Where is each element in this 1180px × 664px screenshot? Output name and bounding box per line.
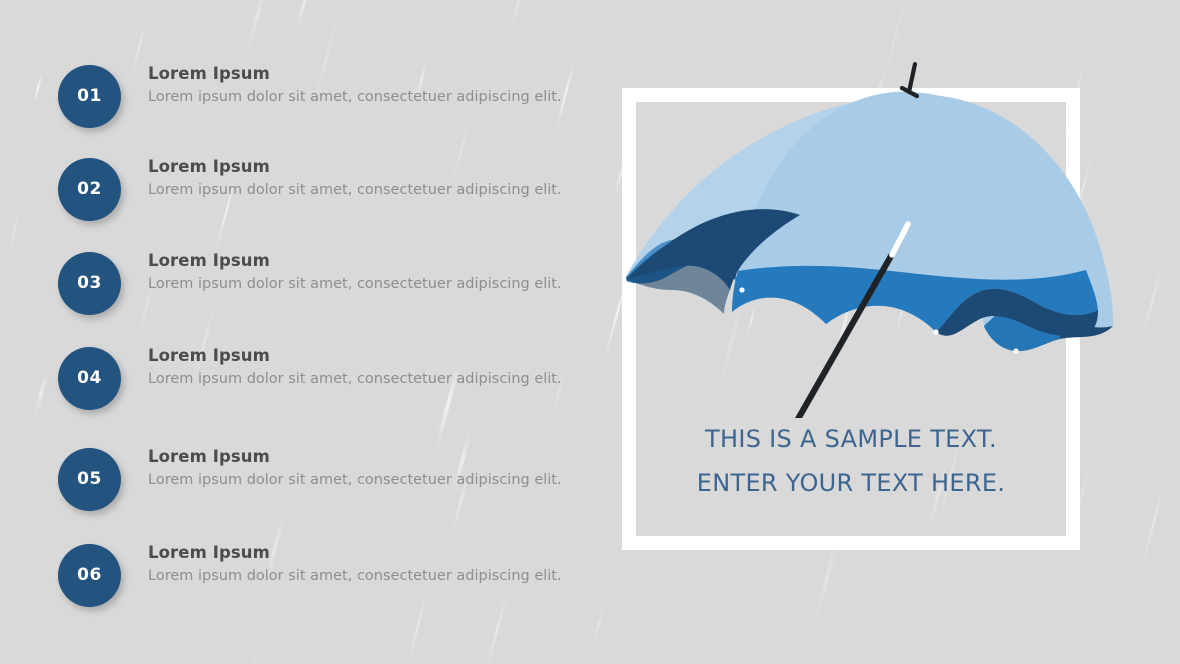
list-item-text: Lorem Ipsum Lorem ipsum dolor sit amet, …	[148, 346, 588, 388]
list-item-badge: 04	[58, 347, 121, 410]
list-item-title: Lorem Ipsum	[148, 543, 588, 564]
list-item-number: 02	[77, 181, 102, 198]
list-item-body: Lorem ipsum dolor sit amet, consectetuer…	[148, 567, 588, 586]
list-item-body: Lorem ipsum dolor sit amet, consectetuer…	[148, 275, 588, 294]
list-item-body: Lorem ipsum dolor sit amet, consectetuer…	[148, 181, 588, 200]
list-item-body: Lorem ipsum dolor sit amet, consectetuer…	[148, 370, 588, 389]
list-item-title: Lorem Ipsum	[148, 64, 588, 85]
list-item-text: Lorem Ipsum Lorem ipsum dolor sit amet, …	[148, 64, 588, 106]
list-item-text: Lorem Ipsum Lorem ipsum dolor sit amet, …	[148, 157, 588, 199]
list-item[interactable]: 02 Lorem Ipsum Lorem ipsum dolor sit ame…	[0, 158, 600, 232]
caption-block: THIS IS A SAMPLE TEXT. ENTER YOUR TEXT H…	[636, 418, 1066, 505]
list-item[interactable]: 06 Lorem Ipsum Lorem ipsum dolor sit ame…	[0, 544, 600, 618]
list-item[interactable]: 01 Lorem Ipsum Lorem ipsum dolor sit ame…	[0, 65, 600, 139]
list-item-body: Lorem ipsum dolor sit amet, consectetuer…	[148, 88, 588, 107]
list-item-title: Lorem Ipsum	[148, 447, 588, 468]
list-item[interactable]: 05 Lorem Ipsum Lorem ipsum dolor sit ame…	[0, 448, 600, 522]
list-item-badge: 06	[58, 544, 121, 607]
list-item-text: Lorem Ipsum Lorem ipsum dolor sit amet, …	[148, 543, 588, 585]
list-item-number: 03	[77, 275, 102, 292]
list-item-number: 06	[77, 567, 102, 584]
list-item-text: Lorem Ipsum Lorem ipsum dolor sit amet, …	[148, 251, 588, 293]
list-item-number: 05	[77, 471, 102, 488]
list-item-badge: 02	[58, 158, 121, 221]
list-item-badge: 01	[58, 65, 121, 128]
list-item-badge: 03	[58, 252, 121, 315]
list-item[interactable]: 04 Lorem Ipsum Lorem ipsum dolor sit ame…	[0, 347, 600, 421]
list-item-number: 04	[77, 370, 102, 387]
caption-line-1: THIS IS A SAMPLE TEXT.	[636, 418, 1066, 462]
list-item-body: Lorem ipsum dolor sit amet, consectetuer…	[148, 471, 588, 490]
list-item-text: Lorem Ipsum Lorem ipsum dolor sit amet, …	[148, 447, 588, 489]
list-item-number: 01	[77, 88, 102, 105]
caption-line-2: ENTER YOUR TEXT HERE.	[636, 462, 1066, 506]
list-item[interactable]: 03 Lorem Ipsum Lorem ipsum dolor sit ame…	[0, 252, 600, 326]
slide-canvas: 01 Lorem Ipsum Lorem ipsum dolor sit ame…	[0, 0, 1180, 664]
list-item-title: Lorem Ipsum	[148, 251, 588, 272]
image-panel: THIS IS A SAMPLE TEXT. ENTER YOUR TEXT H…	[622, 88, 1080, 550]
list-item-title: Lorem Ipsum	[148, 346, 588, 367]
list-item-title: Lorem Ipsum	[148, 157, 588, 178]
numbered-list: 01 Lorem Ipsum Lorem ipsum dolor sit ame…	[0, 0, 600, 664]
list-item-badge: 05	[58, 448, 121, 511]
